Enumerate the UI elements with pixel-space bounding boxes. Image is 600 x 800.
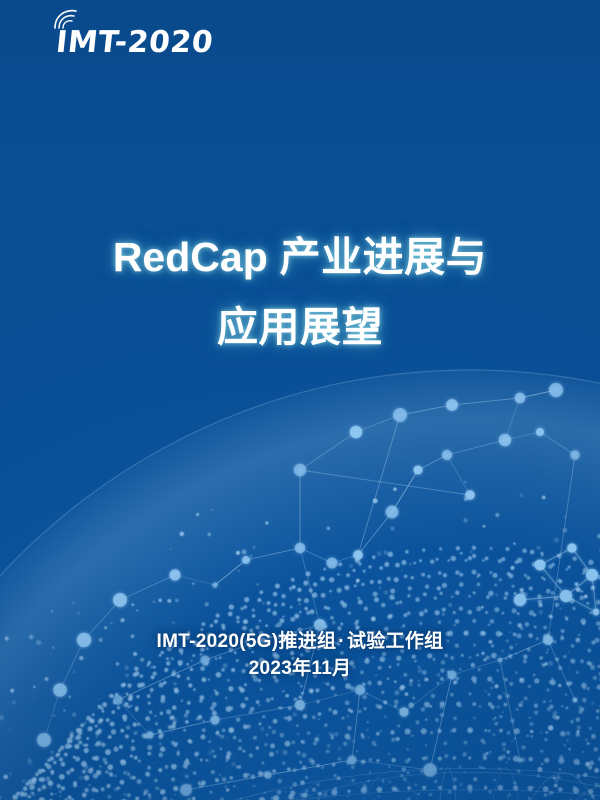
footer-date: 2023年11月 — [0, 655, 600, 682]
footer-organization: IMT-2020(5G)推进组 — [157, 631, 337, 652]
footer-workgroup: 试验工作组 — [347, 631, 444, 652]
cover-page: IMT-2020 RedCap 产业进展与 应用展望 IMT-2020(5G)推… — [0, 0, 600, 800]
title-line-1: RedCap 产业进展与 — [0, 222, 600, 292]
logo-text: IMT-2020 — [54, 25, 215, 60]
title-line-2: 应用展望 — [0, 292, 600, 362]
cover-footer: IMT-2020(5G)推进组·试验工作组 2023年11月 — [0, 628, 600, 682]
page-title: RedCap 产业进展与 应用展望 — [0, 222, 600, 362]
footer-separator: · — [336, 631, 347, 652]
title-latin: RedCap — [113, 234, 268, 280]
title-cn-1: 产业进展与 — [280, 234, 488, 280]
imt-2020-logo[interactable]: IMT-2020 — [48, 6, 208, 58]
footer-organization-line: IMT-2020(5G)推进组·试验工作组 — [0, 628, 600, 655]
